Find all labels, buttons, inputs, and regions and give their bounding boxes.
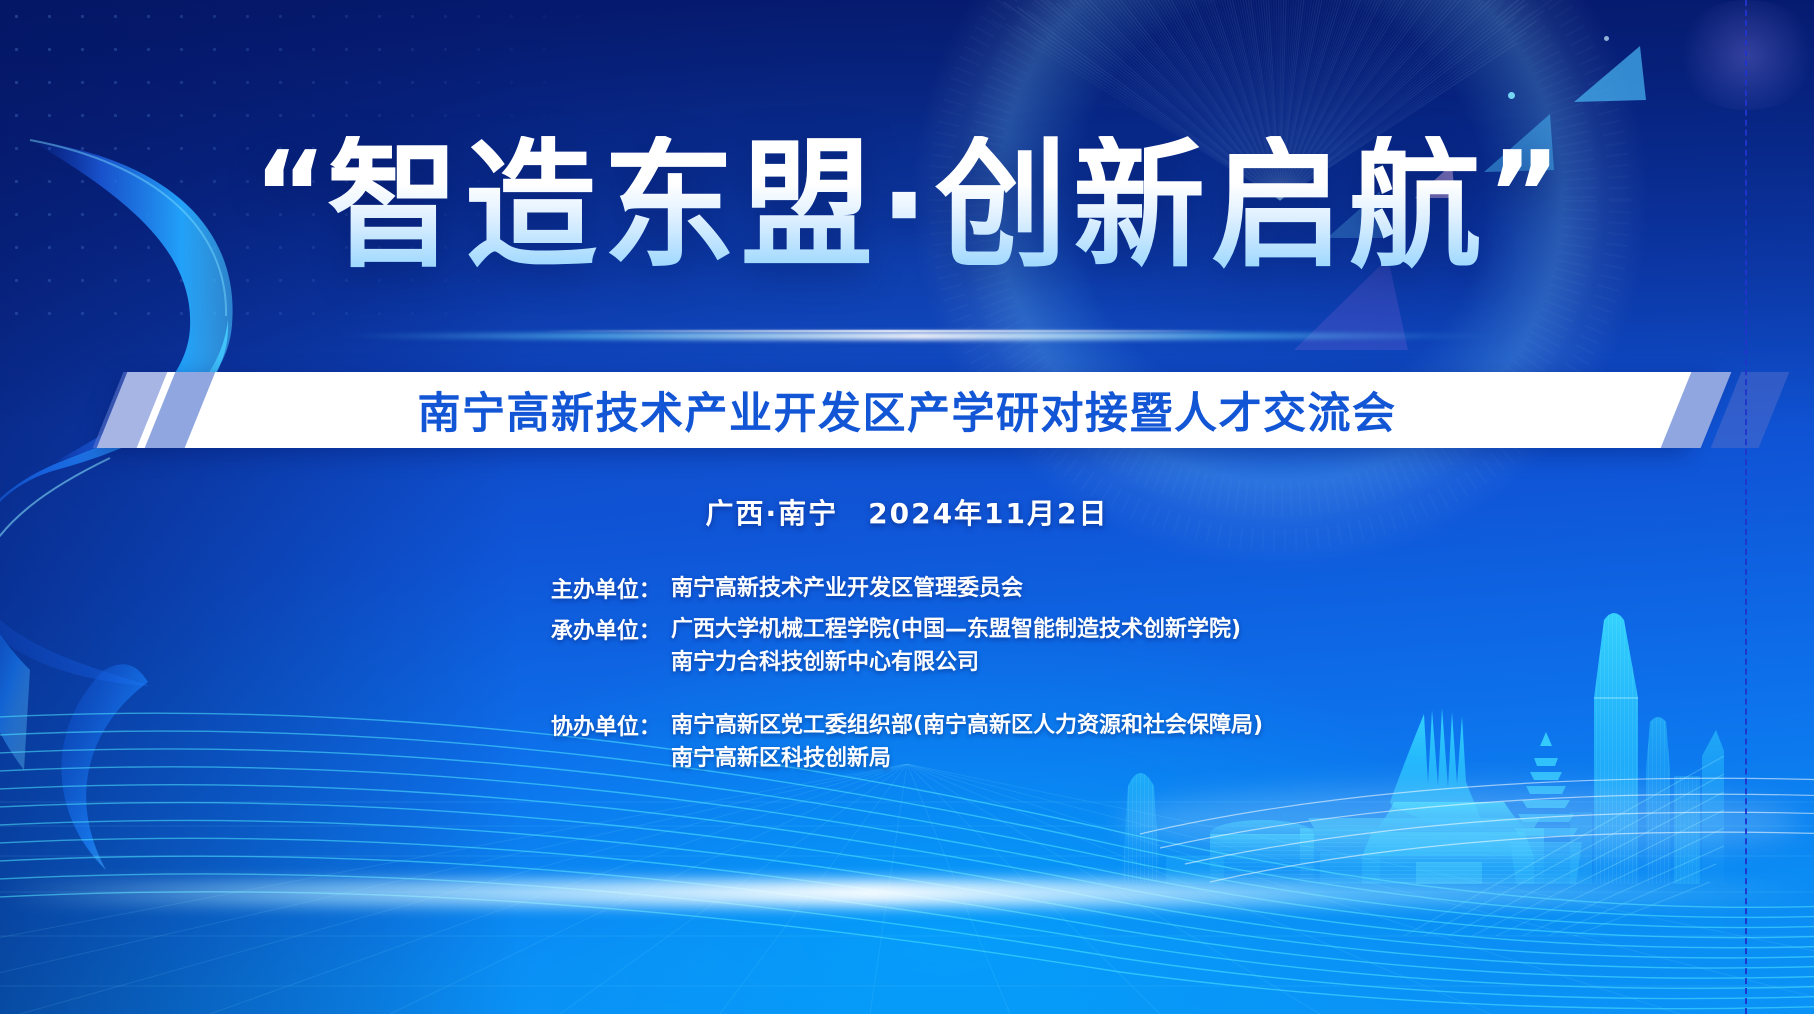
subtitle-band: 南宁高新技术产业开发区产学研对接暨人才交流会 — [0, 372, 1814, 448]
organizer-row: 主办单位： 南宁高新技术产业开发区管理委员会 — [551, 572, 1263, 605]
organizer-label: 协办单位： — [551, 709, 661, 741]
spark-dot-icon — [1508, 92, 1515, 99]
perspective-grid-icon — [0, 764, 1814, 1014]
title-block: “智造东盟·创新启航” — [0, 140, 1814, 272]
meta-block: 广西·南宁 2024年11月2日 主办单位： 南宁高新技术产业开发区管理委员会 … — [0, 492, 1814, 783]
organizer-values: 广西大学机械工程学院(中国—东盟智能制造技术创新学院) 南宁力合科技创新中心有限… — [671, 613, 1241, 679]
organizer-row: 协办单位： 南宁高新区党工委组织部(南宁高新区人力资源和社会保障局) 南宁高新区… — [551, 709, 1263, 775]
organizer-label: 主办单位： — [551, 572, 661, 604]
location-date: 广西·南宁 2024年11月2日 — [0, 492, 1814, 532]
lens-flare-icon — [1672, 0, 1814, 110]
triangle-icon — [1570, 40, 1650, 110]
organizer-values: 南宁高新技术产业开发区管理委员会 — [671, 572, 1023, 605]
spacer — [551, 687, 1263, 709]
organizer-value: 南宁高新区科技创新局 — [671, 742, 1263, 775]
dashed-guide-line — [1745, 0, 1747, 1014]
organizer-values: 南宁高新区党工委组织部(南宁高新区人力资源和社会保障局) 南宁高新区科技创新局 — [671, 709, 1263, 775]
organizer-value: 南宁力合科技创新中心有限公司 — [671, 646, 1241, 679]
subtitle-text: 南宁高新技术产业开发区产学研对接暨人才交流会 — [0, 372, 1814, 448]
organizer-label: 承办单位： — [551, 613, 661, 645]
light-streak-core — [540, 330, 1240, 332]
organizer-row: 承办单位： 广西大学机械工程学院(中国—东盟智能制造技术创新学院) 南宁力合科技… — [551, 613, 1263, 679]
close-quote: ” — [1487, 127, 1561, 265]
open-quote: “ — [253, 127, 327, 265]
event-poster: “智造东盟·创新启航” 南宁高新技术产业开发区产学研对接暨人才交流会 广西·南宁… — [0, 0, 1814, 1014]
light-streak — [330, 332, 1510, 340]
organizer-value: 南宁高新区党工委组织部(南宁高新区人力资源和社会保障局) — [671, 709, 1263, 742]
horizon-glow — [0, 880, 1814, 906]
title-text: 智造东盟·创新启航 — [327, 124, 1487, 287]
spark-dot-icon — [1604, 36, 1609, 41]
organizer-value: 广西大学机械工程学院(中国—东盟智能制造技术创新学院) — [671, 613, 1241, 646]
organizers-list: 主办单位： 南宁高新技术产业开发区管理委员会 承办单位： 广西大学机械工程学院(… — [551, 572, 1263, 783]
page-title: “智造东盟·创新启航” — [253, 136, 1560, 276]
organizer-value: 南宁高新技术产业开发区管理委员会 — [671, 572, 1023, 605]
